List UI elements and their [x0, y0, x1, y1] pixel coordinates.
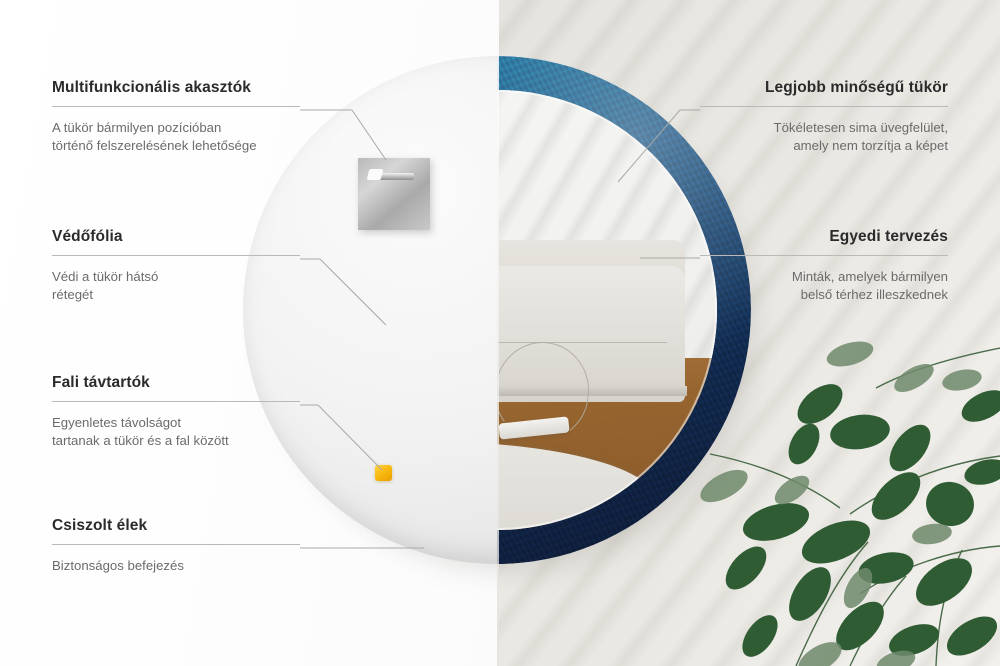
- callout-description: Tökéletesen sima üvegfelület, amely nem …: [700, 119, 948, 155]
- wall-spacer-pad: [375, 465, 392, 481]
- callout-rule: [52, 401, 300, 402]
- callout-rule: [700, 106, 948, 107]
- callout-title: Legjobb minőségű tükör: [700, 79, 948, 97]
- callout-title: Védőfólia: [52, 228, 300, 246]
- callout-title: Multifunkcionális akasztók: [52, 79, 300, 97]
- hanger-keyhole-slot: [370, 173, 414, 180]
- callout-description: A tükör bármilyen pozícióban történő fel…: [52, 119, 300, 155]
- callout-rule: [52, 544, 300, 545]
- callout-rule: [700, 255, 948, 256]
- eucalyptus-foliage: [700, 336, 1000, 666]
- callout-description: Minták, amelyek bármilyen belső térhez i…: [700, 268, 948, 304]
- callout-multifunctional-hooks: Multifunkcionális akasztók A tükör bármi…: [52, 79, 300, 155]
- callout-rule: [52, 255, 300, 256]
- callout-unique-design: Egyedi tervezés Minták, amelyek bármilye…: [700, 228, 948, 304]
- callout-description: Biztonságos befejezés: [52, 557, 300, 575]
- panel-split-divider: [497, 0, 499, 666]
- callout-rule: [52, 106, 300, 107]
- callout-title: Fali távtartók: [52, 374, 300, 392]
- callout-description: Védi a tükör hátsó rétegét: [52, 268, 300, 304]
- callout-description: Egyenletes távolságot tartanak a tükör é…: [52, 414, 300, 450]
- callout-title: Csiszolt élek: [52, 517, 300, 535]
- infographic-canvas: Multifunkcionális akasztók A tükör bármi…: [0, 0, 1000, 666]
- callout-title: Egyedi tervezés: [700, 228, 948, 246]
- callout-wall-spacers: Fali távtartók Egyenletes távolságot tar…: [52, 374, 300, 450]
- callout-polished-edges: Csiszolt élek Biztonságos befejezés: [52, 517, 300, 575]
- wall-hanger-plate: [358, 158, 430, 230]
- callout-protective-film: Védőfólia Védi a tükör hátsó rétegét: [52, 228, 300, 304]
- callout-best-quality-mirror: Legjobb minőségű tükör Tökéletesen sima …: [700, 79, 948, 155]
